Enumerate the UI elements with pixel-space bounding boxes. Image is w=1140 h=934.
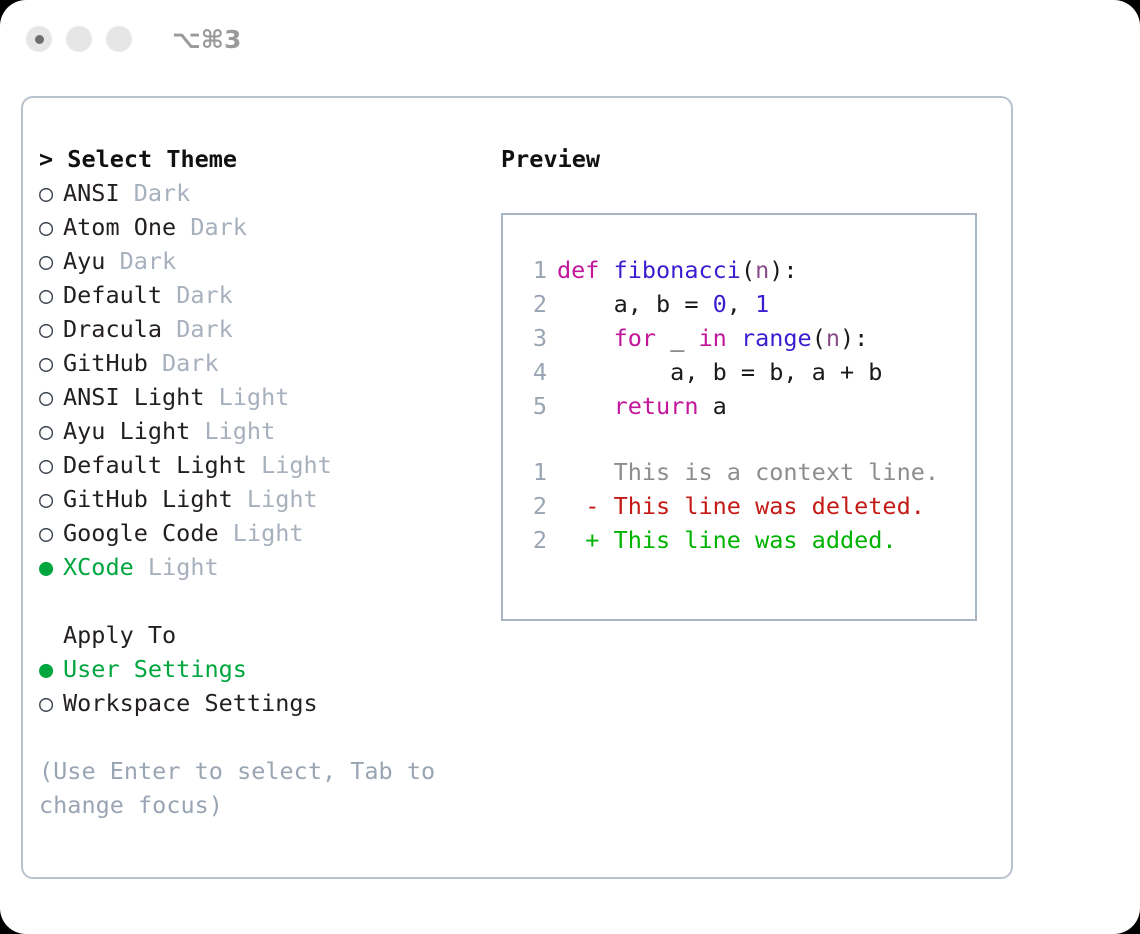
keyboard-hint-text: (Use Enter to select, Tab to change focu…: [39, 754, 439, 822]
theme-list-item-label: Default Light: [63, 451, 247, 479]
theme-list-item-label: Ayu: [63, 247, 105, 275]
radio-unselected-icon[interactable]: ○: [39, 414, 63, 448]
apply-to-heading-indent: [39, 618, 63, 652]
window-dot-2[interactable]: [66, 26, 92, 52]
code-token: def: [557, 256, 614, 284]
code-token: n: [755, 256, 769, 284]
code-token: a: [698, 392, 726, 420]
theme-list-item-variant: Light: [134, 553, 219, 581]
code-token: ):: [840, 324, 868, 352]
theme-list-item[interactable]: ○Dracula Dark: [39, 312, 479, 346]
code-line: 5 return a: [521, 389, 975, 423]
apply-to-list-item-label: User Settings: [63, 655, 247, 683]
code-line: 2 a, b = 0, 1: [521, 287, 975, 321]
code-sample: 1def fibonacci(n):2 a, b = 0, 13 for _ i…: [521, 253, 975, 423]
code-token: [727, 324, 741, 352]
diff-marker: [557, 458, 599, 486]
theme-list-item[interactable]: ○Ayu Dark: [39, 244, 479, 278]
select-theme-heading-text: Select Theme: [67, 145, 237, 173]
diff-line-number: 2: [521, 523, 547, 557]
code-line-number: 3: [521, 321, 547, 355]
select-theme-heading-prefix: >: [39, 145, 67, 173]
diff-line-text: This is a context line.: [599, 458, 939, 486]
theme-list-item[interactable]: ○Ayu Light Light: [39, 414, 479, 448]
code-line: 3 for _ in range(n):: [521, 321, 975, 355]
theme-list-item-label: Default: [63, 281, 162, 309]
theme-list-item-variant: Dark: [105, 247, 176, 275]
apply-to-heading-text: Apply To: [63, 621, 176, 649]
theme-list-item-variant: Light: [204, 383, 289, 411]
code-line-number: 1: [521, 253, 547, 287]
code-token: return: [614, 392, 699, 420]
diff-line-number: 1: [521, 455, 547, 489]
apply-to-list-item[interactable]: ●User Settings: [39, 652, 479, 686]
theme-list-item[interactable]: ○ANSI Light Light: [39, 380, 479, 414]
diff-marker: -: [557, 492, 599, 520]
theme-list-item-label: ANSI: [63, 179, 120, 207]
code-token: for: [614, 324, 656, 352]
theme-picker-column: > Select Theme ○ANSI Dark○Atom One Dark○…: [39, 142, 479, 822]
radio-unselected-icon[interactable]: ○: [39, 346, 63, 380]
theme-list-item-variant: Dark: [120, 179, 191, 207]
select-theme-heading: > Select Theme: [39, 142, 479, 176]
dialog-panel: > Select Theme ○ANSI Dark○Atom One Dark○…: [21, 96, 1013, 879]
code-token: ):: [769, 256, 797, 284]
radio-unselected-icon[interactable]: ○: [39, 176, 63, 210]
theme-list-item[interactable]: ○Atom One Dark: [39, 210, 479, 244]
radio-unselected-icon[interactable]: ○: [39, 448, 63, 482]
apply-to-heading: Apply To: [39, 618, 479, 652]
code-line: 4 a, b = b, a + b: [521, 355, 975, 389]
code-line-number: 5: [521, 389, 547, 423]
code-token: n: [826, 324, 840, 352]
code-token: in: [699, 324, 727, 352]
radio-unselected-icon[interactable]: ○: [39, 244, 63, 278]
code-token: 0: [713, 290, 727, 318]
app-window: ⌥⌘3 > Select Theme ○ANSI Dark○Atom One D…: [0, 0, 1140, 934]
theme-list-item[interactable]: ○Default Dark: [39, 278, 479, 312]
radio-selected-icon[interactable]: ●: [39, 652, 63, 686]
radio-unselected-icon[interactable]: ○: [39, 516, 63, 550]
window-dot-active-indicator: [35, 35, 44, 44]
theme-list-item-variant: Light: [219, 519, 304, 547]
diff-line: 1 This is a context line.: [521, 455, 975, 489]
preview-spacer: [521, 423, 975, 455]
radio-unselected-icon[interactable]: ○: [39, 210, 63, 244]
theme-list-item[interactable]: ●XCode Light: [39, 550, 479, 584]
diff-line-text: This line was added.: [599, 526, 896, 554]
diff-line-number: 2: [521, 489, 547, 523]
theme-list-item-variant: Light: [233, 485, 318, 513]
code-token: range: [741, 324, 812, 352]
theme-list-item[interactable]: ○Google Code Light: [39, 516, 479, 550]
theme-list-item-label: Atom One: [63, 213, 176, 241]
code-token: a, b =: [557, 290, 713, 318]
theme-list-item[interactable]: ○GitHub Dark: [39, 346, 479, 380]
theme-list-item[interactable]: ○GitHub Light Light: [39, 482, 479, 516]
preview-heading: Preview: [501, 142, 991, 176]
radio-unselected-icon[interactable]: ○: [39, 686, 63, 720]
code-line-number: 4: [521, 355, 547, 389]
diff-line: 2 + This line was added.: [521, 523, 975, 557]
theme-list-item-label: XCode: [63, 553, 134, 581]
apply-to-list-item-label: Workspace Settings: [63, 689, 318, 717]
code-line-number: 2: [521, 287, 547, 321]
theme-list-item-variant: Dark: [162, 281, 233, 309]
window-dot-active[interactable]: [26, 26, 52, 52]
code-token: (: [741, 256, 755, 284]
window-dot-3[interactable]: [106, 26, 132, 52]
radio-unselected-icon[interactable]: ○: [39, 482, 63, 516]
code-token: (: [812, 324, 826, 352]
code-token: a, b = b, a + b: [557, 358, 882, 386]
theme-list-item-label: GitHub: [63, 349, 148, 377]
radio-unselected-icon[interactable]: ○: [39, 380, 63, 414]
theme-list: ○ANSI Dark○Atom One Dark○Ayu Dark○Defaul…: [39, 176, 479, 584]
diff-line-text: This line was deleted.: [599, 492, 924, 520]
code-token: 1: [755, 290, 769, 318]
theme-list-item[interactable]: ○ANSI Dark: [39, 176, 479, 210]
theme-list-item-label: ANSI Light: [63, 383, 204, 411]
theme-list-item[interactable]: ○Default Light Light: [39, 448, 479, 482]
code-line: 1def fibonacci(n):: [521, 253, 975, 287]
apply-to-list-item[interactable]: ○Workspace Settings: [39, 686, 479, 720]
theme-list-item-variant: Light: [190, 417, 275, 445]
theme-list-item-variant: Light: [247, 451, 332, 479]
diff-marker: +: [557, 526, 599, 554]
code-token: [557, 392, 614, 420]
radio-unselected-icon[interactable]: ○: [39, 278, 63, 312]
theme-list-item-label: Dracula: [63, 315, 162, 343]
radio-unselected-icon[interactable]: ○: [39, 312, 63, 346]
diff-line: 2 - This line was deleted.: [521, 489, 975, 523]
preview-column: Preview 1def fibonacci(n):2 a, b = 0, 13…: [501, 142, 991, 621]
code-token: fibonacci: [614, 256, 741, 284]
apply-to-list: ●User Settings○Workspace Settings: [39, 652, 479, 720]
theme-list-item-label: GitHub Light: [63, 485, 233, 513]
keyboard-shortcut-label: ⌥⌘3: [172, 25, 241, 54]
title-bar: ⌥⌘3: [0, 0, 1140, 78]
theme-list-item-variant: Dark: [162, 315, 233, 343]
theme-list-item-variant: Dark: [176, 213, 247, 241]
theme-list-item-label: Ayu Light: [63, 417, 190, 445]
preview-box: 1def fibonacci(n):2 a, b = 0, 13 for _ i…: [501, 213, 977, 621]
radio-selected-icon[interactable]: ●: [39, 550, 63, 584]
diff-sample: 1 This is a context line.2 - This line w…: [521, 455, 975, 557]
theme-list-item-variant: Dark: [148, 349, 219, 377]
theme-list-item-label: Google Code: [63, 519, 219, 547]
code-token: ,: [727, 290, 755, 318]
code-token: _: [656, 324, 698, 352]
code-token: [557, 324, 614, 352]
